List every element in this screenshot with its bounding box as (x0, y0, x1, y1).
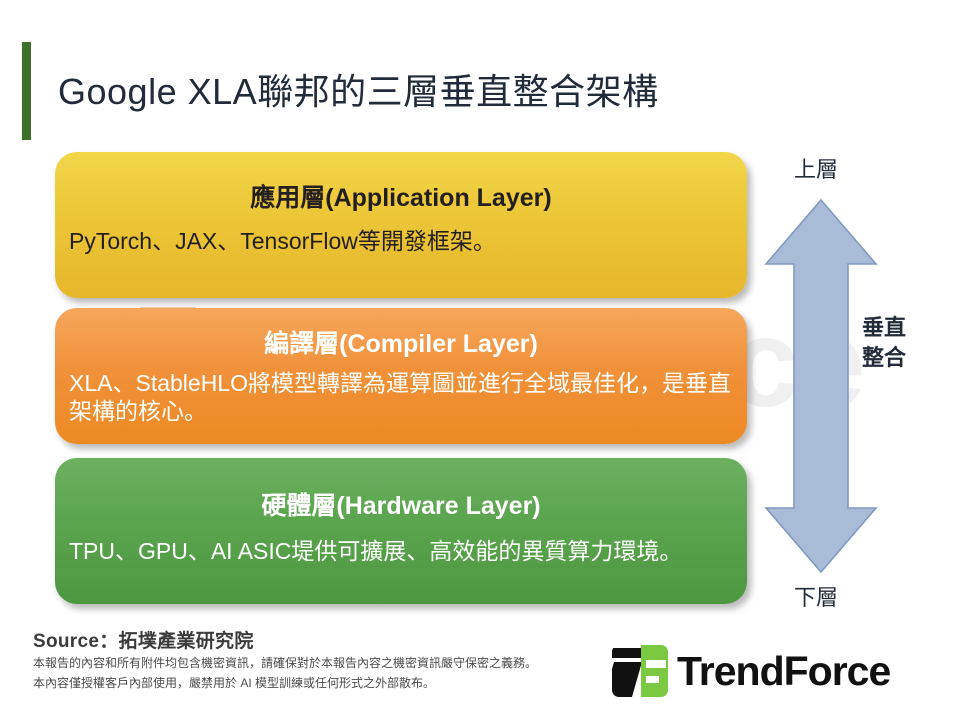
slide-canvas: TrendForce Google XLA聯邦的三層垂直整合架構 應用層(App… (0, 0, 960, 720)
layer-title-compiler: 編譯層(Compiler Layer) (55, 330, 747, 359)
arrow-label-top: 上層 (794, 152, 838, 184)
layer-box-application[interactable]: 應用層(Application Layer) PyTorch、JAX、Tenso… (55, 152, 747, 298)
layer-description-hardware: TPU、GPU、AI ASIC堤供可擴展、高效能的異質算力環境。 (55, 537, 747, 565)
page-title: Google XLA聯邦的三層垂直整合架構 (58, 63, 659, 115)
arrow-side-label-line2: 整合 (862, 343, 906, 373)
layer-title-hardware: 硬體層(Hardware Layer) (55, 492, 747, 521)
layer-title-application: 應用層(Application Layer) (55, 184, 747, 213)
footer-disclaimer-line-2: 本內容僅授權客戶內部使用，嚴禁用於 AI 模型訓練或任何形式之外部散布。 (33, 674, 537, 694)
arrow-side-label-line1: 垂直 (862, 313, 906, 343)
trendforce-logo: TrendForce (612, 645, 890, 697)
vertical-integration-arrow-icon (762, 196, 880, 576)
footer-disclaimer: 本報告的內容和所有附件均包含機密資訊，請確保對於本報告內容之機密資訊嚴守保密之義… (33, 654, 537, 694)
footer-source: Source：拓墣產業研究院 (33, 626, 254, 653)
trendforce-logo-mark-icon (612, 645, 668, 697)
arrow-label-bottom: 下層 (794, 580, 838, 612)
layer-box-hardware[interactable]: 硬體層(Hardware Layer) TPU、GPU、AI ASIC堤供可擴展… (55, 458, 747, 604)
layer-box-compiler[interactable]: 編譯層(Compiler Layer) XLA、StableHLO將模型轉譯為運… (55, 308, 747, 444)
layer-description-application: PyTorch、JAX、TensorFlow等開發框架。 (55, 227, 747, 255)
arrow-side-label: 垂直 整合 (862, 313, 906, 372)
layer-description-compiler: XLA、StableHLO將模型轉譯為運算圖並進行全域最佳化，是垂直架構的核心。 (55, 369, 747, 425)
title-accent-bar (22, 42, 31, 140)
trendforce-logo-text: TrendForce (677, 651, 890, 692)
footer-disclaimer-line-1: 本報告的內容和所有附件均包含機密資訊，請確保對於本報告內容之機密資訊嚴守保密之義… (33, 654, 537, 674)
